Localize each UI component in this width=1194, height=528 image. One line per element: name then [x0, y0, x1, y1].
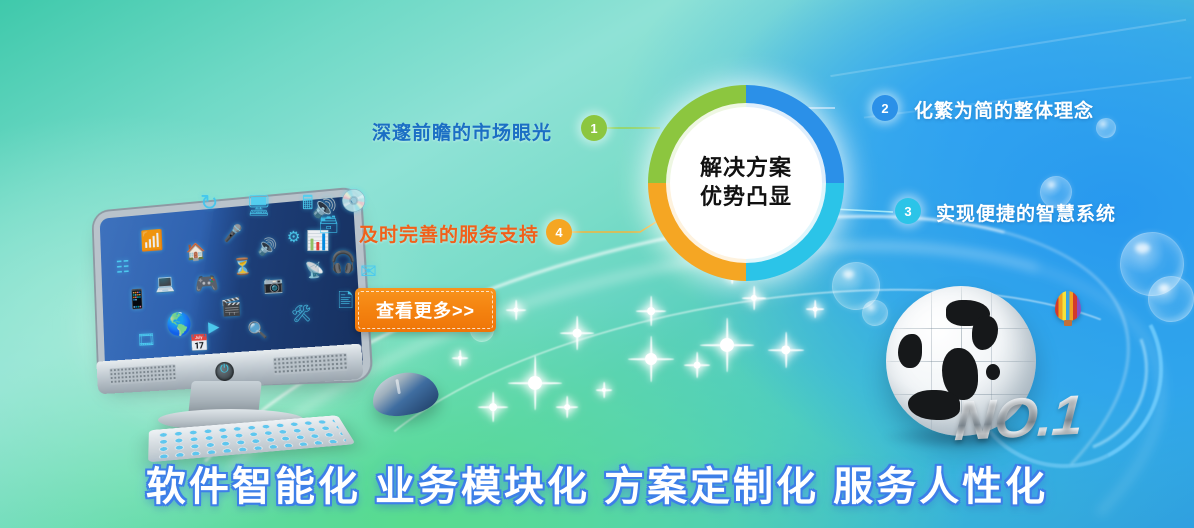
desktop-icon: 🖥: [246, 196, 271, 216]
view-more-button[interactable]: 查看更多>>: [355, 288, 496, 332]
headphones-icon: 🎧: [330, 252, 356, 273]
donut-center-line1: 解决方案: [700, 154, 792, 183]
feature-badge-2[interactable]: 2: [872, 95, 898, 121]
browser-window-icon: 🖹: [338, 292, 353, 311]
mail-icon: ✉: [360, 262, 377, 282]
sd-card-icon: 🗃: [318, 216, 340, 233]
donut-center-line2: 优势凸显: [700, 183, 792, 212]
promo-banner: ☷ 📶 📱 🌎 💻 🏠 🎮 🎤 ⏳ 🎬 🔊 📷 ⚙ 🔍 🛠 📅 🎞 ▶ 📡: [0, 0, 1194, 528]
feature-badge-1[interactable]: 1: [581, 115, 607, 141]
disc-icon: 💿: [340, 190, 367, 212]
banner-tagline: 软件智能化 业务模块化 方案定制化 服务人性化: [0, 454, 1194, 512]
feature-label-2[interactable]: 化繁为简的整体理念: [914, 96, 1094, 123]
donut-center-text: 解决方案 优势凸显: [670, 107, 822, 259]
refresh-icon: ↻: [200, 192, 218, 214]
feature-label-3[interactable]: 实现便捷的智慧系统: [936, 199, 1116, 226]
feature-label-1[interactable]: 深邃前瞻的市场眼光: [372, 118, 552, 145]
feature-badge-4[interactable]: 4: [546, 219, 572, 245]
solution-donut-chart: 解决方案 优势凸显: [648, 85, 844, 281]
hot-air-balloon-icon: [1055, 291, 1081, 321]
bar-chart-icon: 📊: [306, 232, 330, 251]
feature-badge-3[interactable]: 3: [895, 198, 921, 224]
no1-badge: NO.1: [953, 382, 1084, 454]
feature-label-4[interactable]: 及时完善的服务支持: [359, 220, 539, 247]
